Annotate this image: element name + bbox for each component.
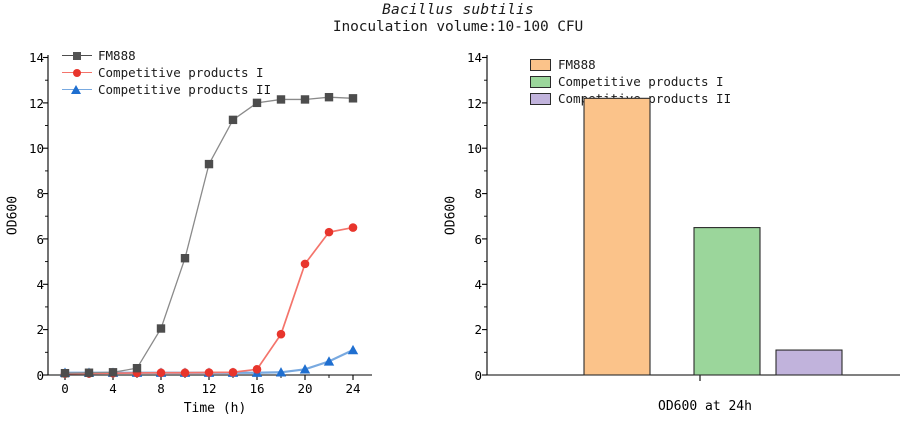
right-plot-svg [0,0,916,430]
bar [776,350,842,375]
figure-canvas: Bacillus subtilis Inoculation volume:10-… [0,0,916,430]
bar-group [584,98,842,375]
bar [584,98,650,375]
bar [694,228,760,375]
